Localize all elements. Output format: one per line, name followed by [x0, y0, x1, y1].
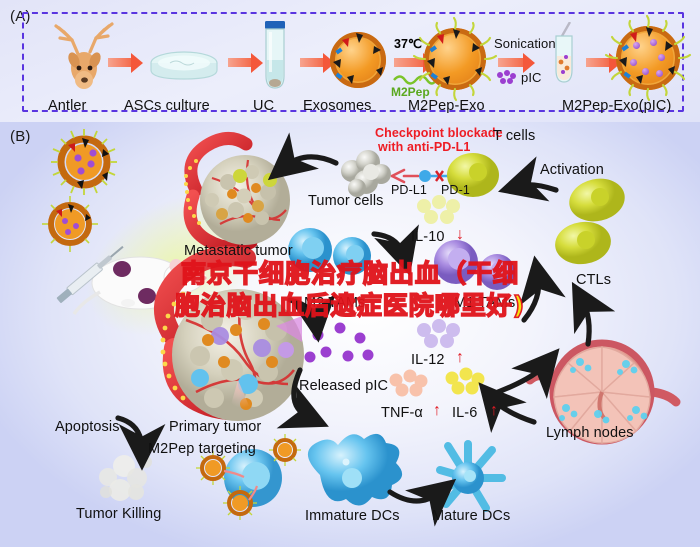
pic-label: pIC [521, 70, 542, 85]
process-arrow-6 [586, 58, 610, 67]
step-label-antler: Antler [48, 98, 86, 114]
label-pd-l1: PD-L1 [391, 183, 427, 197]
label-il-12: IL-12 [411, 352, 445, 368]
panel-b [0, 122, 700, 547]
tnf-alpha-trend-arrow: ↑ [433, 402, 441, 420]
label-t-cells: T cells [493, 128, 535, 144]
step-label-uc: UC [253, 98, 274, 114]
exosome-icon [330, 32, 386, 88]
scientific-figure: (A) [0, 0, 700, 547]
label-tnf-alpha: TNF-α [381, 405, 423, 421]
label-m1-tams: M1 TAMs [454, 295, 515, 311]
label-m2-tams: M2 TAMs [304, 295, 365, 311]
label-pd-1: PD-1 [441, 183, 470, 197]
process-arrow-5 [498, 58, 524, 67]
petri-dish-icon [148, 46, 220, 86]
centrifuge-tube-icon [258, 20, 292, 92]
label-activation: Activation [540, 162, 604, 178]
loaded-exosome-icon [616, 26, 680, 90]
step-label-exosomes: Exosomes [303, 98, 372, 114]
step-label-ascs-culture: ASCs culture [124, 98, 210, 114]
label-ctls: CTLs [576, 272, 611, 288]
label-il-6: IL-6 [452, 405, 477, 421]
label-immature-dcs: Immature DCs [305, 508, 400, 524]
process-arrow-1 [108, 58, 132, 67]
il-10-trend-arrow: ↓ [456, 226, 464, 244]
label-checkpoint-blockade-line1: Checkpoint blockade [375, 126, 503, 140]
label-released-pic: Released pIC [299, 378, 388, 394]
step-label-m2pep-exo: M2Pep-Exo [408, 98, 485, 114]
il-6-trend-arrow: ↑ [490, 402, 498, 420]
label-tumor-cells: Tumor cells [308, 193, 384, 209]
label-metastatic-tumor: Metastatic tumor [184, 243, 293, 259]
panel-a: (A) [0, 0, 700, 122]
process-arrow-2 [228, 58, 252, 67]
sonicator-tube-icon [548, 22, 580, 86]
panel-b-tag: (B) [10, 128, 31, 145]
step-label-m2pep-exo-pic: M2Pep-Exo(pIC) [562, 98, 671, 114]
peptide-exosome-icon [424, 28, 486, 90]
temperature-label: 37℃ [394, 36, 422, 51]
label-tumor-killing: Tumor Killing [76, 506, 161, 522]
label-checkpoint-blockade-line2: with anti-PD-L1 [378, 140, 470, 154]
label-mature-dcs: Mature DCs [432, 508, 510, 524]
label-lymph-nodes: Lymph nodes [546, 425, 634, 441]
label-il-10: IL-10 [411, 229, 445, 245]
label-m2pep-targeting: M2Pep targeting [148, 441, 256, 457]
process-arrow-3 [300, 58, 324, 67]
pic-particles-icon [496, 70, 518, 84]
il-12-trend-arrow: ↑ [456, 349, 464, 367]
label-primary-tumor: Primary tumor [169, 419, 261, 435]
sonication-label: Sonication [494, 36, 556, 51]
label-apoptosis: Apoptosis [55, 419, 120, 435]
